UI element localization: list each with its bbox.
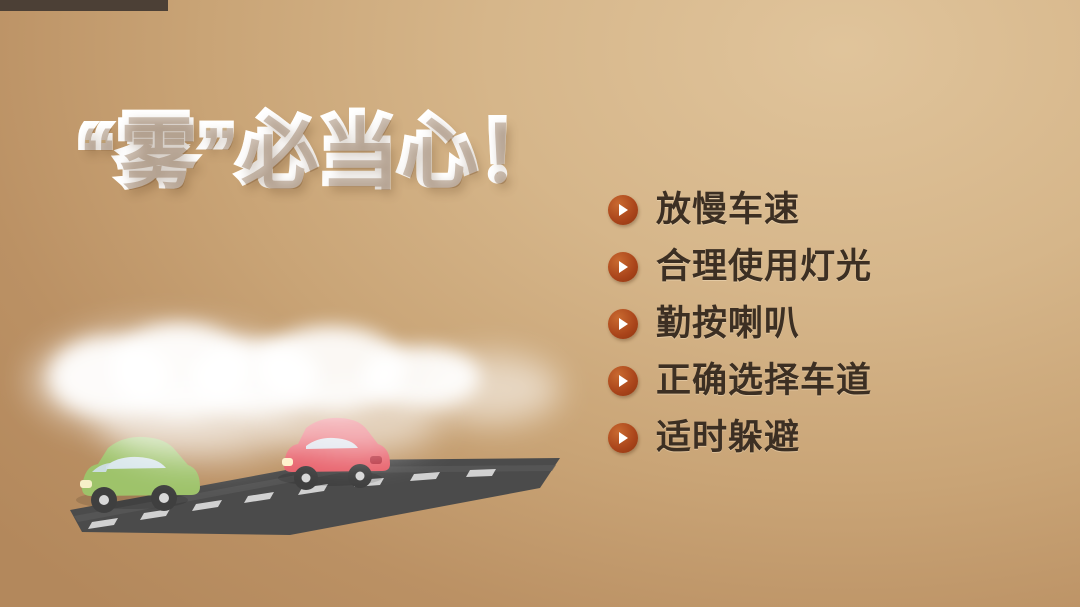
slide-canvas: “雾”必当心！ <box>0 0 1080 607</box>
top-left-accent-strip <box>0 0 168 11</box>
list-item[interactable]: 适时躲避 <box>608 420 872 455</box>
list-item-label: 适时躲避 <box>656 420 800 455</box>
list-item-label: 正确选择车道 <box>656 363 872 398</box>
list-item[interactable]: 放慢车速 <box>608 192 872 227</box>
fog-cloud <box>420 354 560 424</box>
page-title-text: “雾”必当心！ <box>76 107 558 195</box>
list-item[interactable]: 正确选择车道 <box>608 363 872 398</box>
fog-cloud <box>270 384 440 454</box>
list-item-label: 合理使用灯光 <box>656 249 872 284</box>
list-item[interactable]: 合理使用灯光 <box>608 249 872 284</box>
triangle-right-icon <box>608 423 638 453</box>
list-item-label: 放慢车速 <box>656 192 800 227</box>
triangle-right-icon <box>608 195 638 225</box>
page-title: “雾”必当心！ <box>76 112 558 190</box>
bullet-list: 放慢车速 合理使用灯光 勤按喇叭 正确选择车道 适时躲避 <box>608 192 872 455</box>
triangle-right-icon <box>608 309 638 339</box>
triangle-right-icon <box>608 366 638 396</box>
triangle-right-icon <box>608 252 638 282</box>
list-item[interactable]: 勤按喇叭 <box>608 306 872 341</box>
list-item-label: 勤按喇叭 <box>656 306 800 341</box>
illustration-two-cars-in-fog <box>40 320 600 580</box>
